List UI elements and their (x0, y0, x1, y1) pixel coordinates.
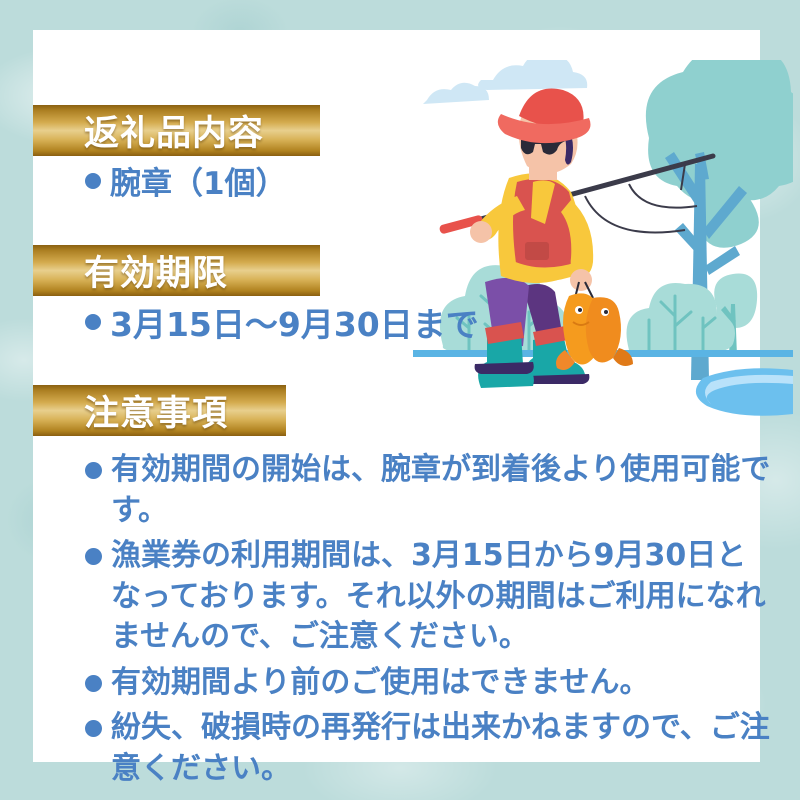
section-2-item: 3月15日〜9月30日まで (85, 304, 479, 347)
note-text: 有効期間より前のご使用はできません。 (111, 663, 650, 704)
bullet-dot-icon (85, 314, 101, 330)
section-1-item: 腕章（1個） (85, 164, 287, 204)
content-card: 返礼品内容 腕章（1個） 有効期限 3月15日〜9月30日まで 注意事項 有効期… (33, 30, 760, 762)
note-item: 有効期間の開始は、腕章が到着後より使用可能です。 (85, 450, 785, 531)
bullet-dot-icon (85, 720, 102, 737)
section-heading-badge-3: 注意事項 (33, 385, 286, 436)
note-item: 紛失、破損時の再発行は出来かねますので、ご注意ください。 (85, 708, 785, 789)
section-heading-text-3: 注意事項 (84, 385, 228, 436)
pond (696, 368, 793, 416)
fisherman-illustration (413, 60, 793, 430)
bullet-dot-icon (85, 548, 102, 565)
note-text: 紛失、破損時の再発行は出来かねますので、ご注意ください。 (111, 708, 771, 789)
bullet-dot-icon (85, 675, 102, 692)
notes-list: 有効期間の開始は、腕章が到着後より使用可能です。 漁業券の利用期間は、3月15日… (85, 450, 785, 794)
bullet-dot-icon (85, 462, 102, 479)
bullet-dot-icon (85, 173, 101, 189)
section-heading-badge-2: 有効期限 (33, 245, 320, 296)
poster-page: 返礼品内容 腕章（1個） 有効期限 3月15日〜9月30日まで 注意事項 有効期… (0, 0, 800, 800)
section-heading-text-1: 返礼品内容 (84, 105, 264, 156)
note-item: 漁業券の利用期間は、3月15日から9月30日となっております。それ以外の期間はご… (85, 536, 785, 658)
note-text: 有効期間の開始は、腕章が到着後より使用可能です。 (111, 450, 771, 531)
caught-fish (556, 282, 633, 370)
note-text: 漁業券の利用期間は、3月15日から9月30日となっております。それ以外の期間はご… (111, 536, 771, 658)
section-1-item-text: 腕章（1個） (110, 164, 287, 204)
hand-on-rod (470, 221, 492, 243)
section-heading-text-2: 有効期限 (84, 245, 228, 296)
section-heading-badge-1: 返礼品内容 (33, 105, 320, 156)
section-2-item-text: 3月15日〜9月30日まで (110, 304, 479, 347)
note-item: 有効期間より前のご使用はできません。 (85, 663, 785, 704)
